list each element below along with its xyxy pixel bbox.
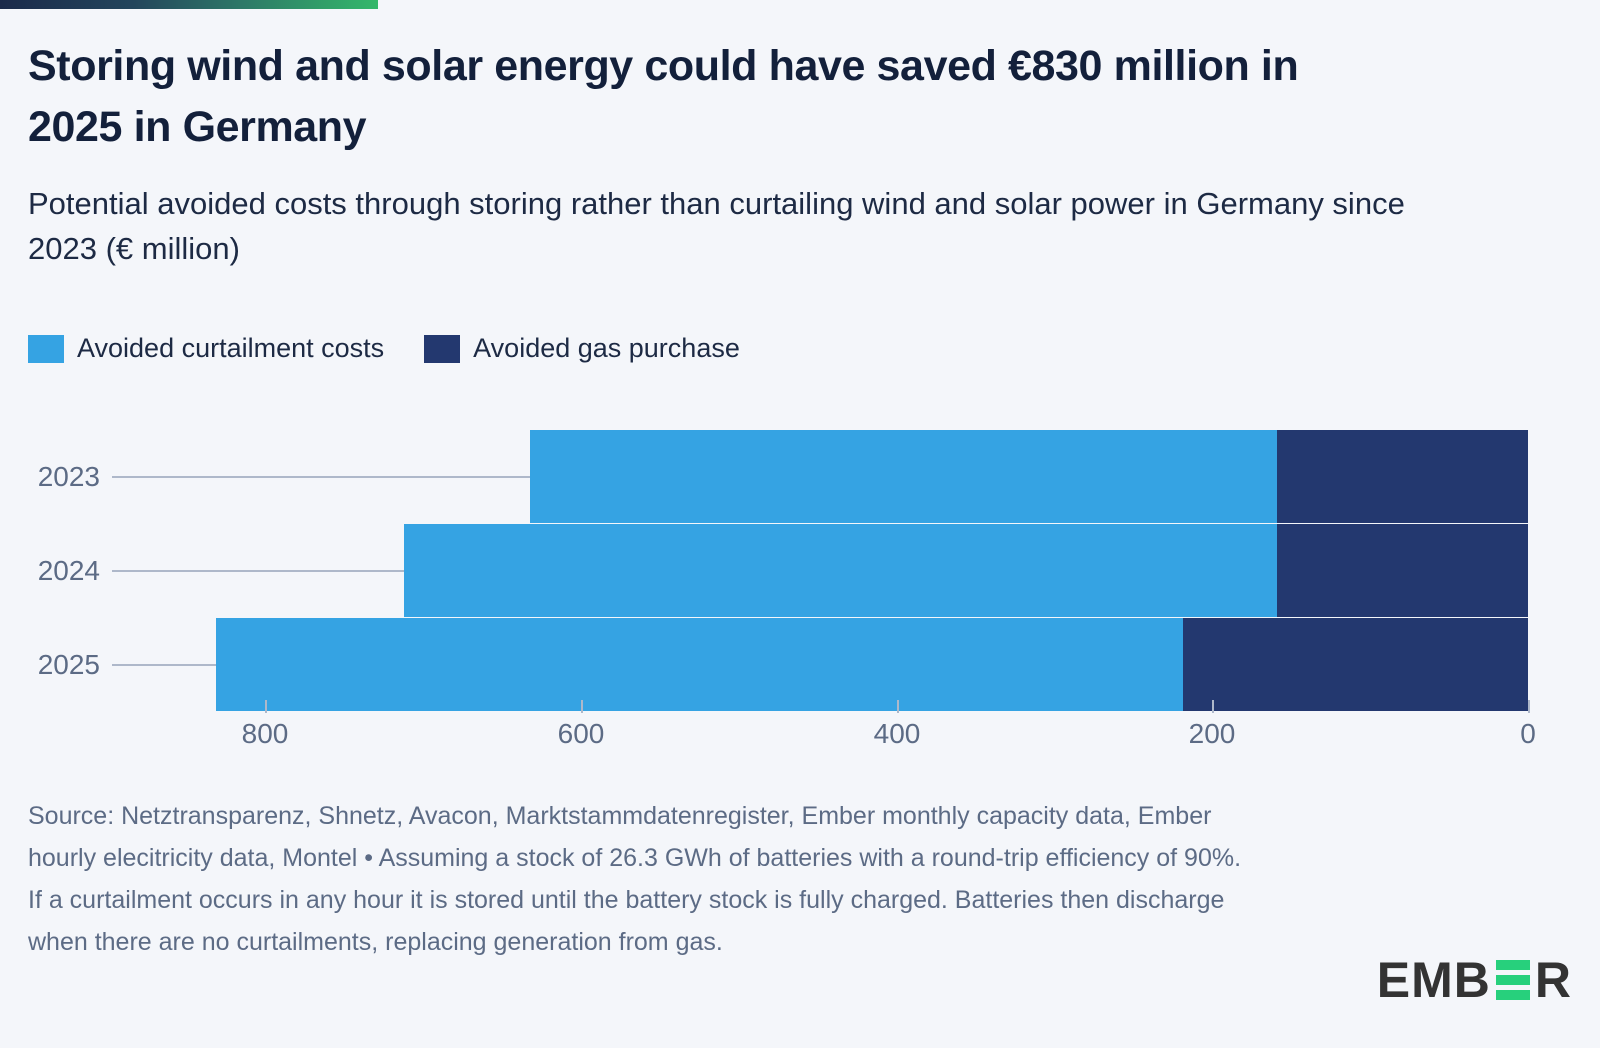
x-axis-tick-label: 800: [242, 718, 289, 750]
chart-page: Storing wind and solar energy could have…: [0, 0, 1600, 1048]
x-axis-tick-label: 600: [558, 718, 605, 750]
stacked-bar[interactable]: [530, 430, 1528, 523]
legend-swatch-icon: [424, 335, 460, 363]
row-connector-line: [112, 570, 404, 572]
ember-logo-e-icon: [1496, 960, 1530, 1000]
ember-logo-part2: R: [1535, 951, 1572, 1009]
legend-label: Avoided gas purchase: [473, 333, 740, 364]
chart-legend: Avoided curtailment costs Avoided gas pu…: [28, 333, 740, 364]
chart-header: Storing wind and solar energy could have…: [28, 36, 1448, 272]
x-axis-tick-label: 200: [1189, 718, 1236, 750]
x-axis-tick: [1528, 700, 1530, 713]
legend-item-avoided-gas-purchase[interactable]: Avoided gas purchase: [424, 333, 740, 364]
x-axis-tick: [897, 700, 899, 713]
row-connector-line: [112, 476, 530, 478]
x-axis-tick: [1212, 700, 1214, 713]
legend-label: Avoided curtailment costs: [77, 333, 384, 364]
bar-segment-avoided-curtailment-costs[interactable]: [216, 618, 1183, 711]
x-axis-tick-label: 400: [874, 718, 921, 750]
bar-segment-avoided-gas-purchase[interactable]: [1183, 618, 1528, 711]
bar-segment-avoided-gas-purchase[interactable]: [1277, 430, 1528, 523]
x-axis-tick-label: 0: [1520, 718, 1536, 750]
y-axis-label: 2023: [28, 461, 100, 493]
bar-segment-avoided-curtailment-costs[interactable]: [404, 524, 1277, 617]
x-axis: 800 600 400 200 0: [0, 700, 1600, 770]
ember-logo-part1: EMB: [1377, 951, 1491, 1009]
x-axis-tick: [265, 700, 267, 713]
x-axis-tick: [581, 700, 583, 713]
bar-segment-avoided-gas-purchase[interactable]: [1277, 524, 1528, 617]
stacked-bar[interactable]: [216, 618, 1528, 711]
y-axis-label: 2024: [28, 555, 100, 587]
y-axis-label: 2025: [28, 649, 100, 681]
ember-logo-text: EMB R: [1377, 951, 1572, 1009]
source-note: Source: Netztransparenz, Shnetz, Avacon,…: [28, 795, 1243, 963]
legend-item-avoided-curtailment-costs[interactable]: Avoided curtailment costs: [28, 333, 384, 364]
chart-subtitle: Potential avoided costs through storing …: [28, 182, 1448, 272]
row-connector-line: [112, 664, 216, 666]
bar-row-2024: 2024: [0, 524, 1600, 617]
stacked-bar[interactable]: [404, 524, 1528, 617]
bar-segment-avoided-curtailment-costs[interactable]: [530, 430, 1277, 523]
brand-accent-bar: [0, 0, 378, 9]
bar-row-2025: 2025: [0, 618, 1600, 711]
chart-title: Storing wind and solar energy could have…: [28, 36, 1388, 158]
bar-row-2023: 2023: [0, 430, 1600, 523]
ember-logo: EMB R: [1377, 954, 1572, 1006]
legend-swatch-icon: [28, 335, 64, 363]
